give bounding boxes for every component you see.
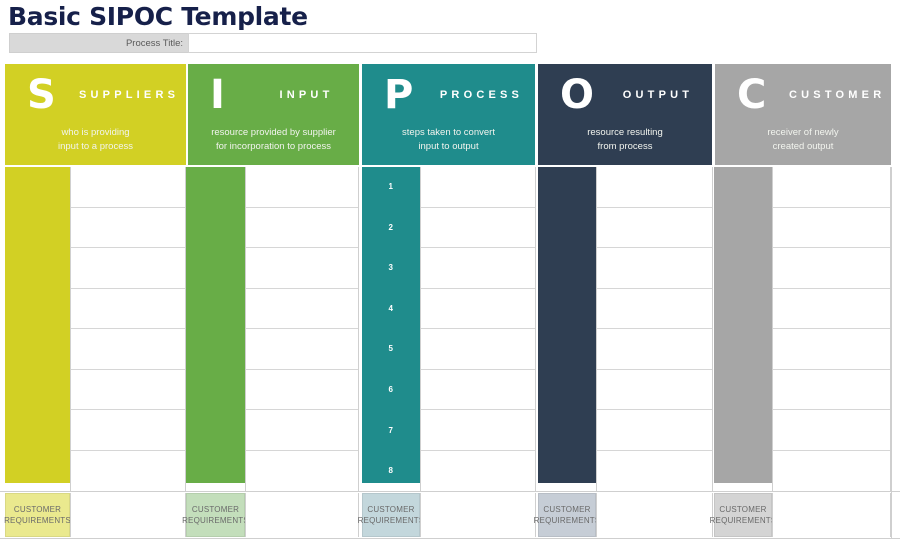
requirements-line-1: CUSTOMER [719,504,766,515]
entry-cell[interactable] [773,289,890,330]
entry-cell[interactable] [71,208,185,249]
sipoc-header-band: SSUPPLIERSwho is providinginput to a pro… [0,64,900,165]
entry-cell[interactable] [421,167,535,208]
customer-requirements-entry-output[interactable] [596,493,713,537]
customer-requirements-output: CUSTOMERREQUIREMENTS [538,493,596,537]
entry-cell[interactable] [246,370,358,411]
sipoc-entry-column-input [245,167,359,491]
sipoc-description-customer: receiver of newlycreated output [715,126,891,153]
entry-cell[interactable] [597,370,712,411]
customer-requirements-entry-input[interactable] [245,493,359,537]
sipoc-letter-output: O [538,75,612,115]
process-step-number: 1 [362,167,420,208]
sipoc-colorbar-input [186,167,245,483]
entry-cell[interactable] [773,248,890,289]
sipoc-letter-input: I [188,75,262,115]
customer-requirements-customer: CUSTOMERREQUIREMENTS [714,493,772,537]
process-step-number: 2 [362,208,420,249]
entry-cell[interactable] [597,167,712,208]
entry-cell[interactable] [773,451,890,492]
sipoc-description-process: steps taken to convertinput to output [362,126,535,153]
sipoc-word-output: OUTPUT [612,89,712,101]
process-title-label: Process Title: [9,33,188,53]
description-line-1: steps taken to convert [368,126,529,140]
sipoc-colorbar-suppliers [5,167,70,483]
sipoc-colorbar-process: 12345678 [362,167,420,483]
process-step-number: 3 [362,248,420,289]
sipoc-word-process: PROCESS [436,89,535,101]
entry-cell[interactable] [773,370,890,411]
entry-cell[interactable] [246,167,358,208]
entry-cell[interactable] [773,329,890,370]
entry-cell[interactable] [597,289,712,330]
customer-requirements-suppliers: CUSTOMERREQUIREMENTS [5,493,70,537]
sipoc-word-suppliers: SUPPLIERS [79,89,186,101]
process-step-number: 8 [362,451,420,492]
requirements-line-2: REQUIREMENTS [182,515,249,526]
requirements-line-2: REQUIREMENTS [710,515,777,526]
sipoc-template-page: Basic SIPOC Template Process Title: SSUP… [0,0,900,539]
description-line-1: resource provided by supplier [194,126,353,140]
entry-cell[interactable] [597,248,712,289]
entry-cell[interactable] [71,289,185,330]
entry-cell[interactable] [246,451,358,492]
process-step-number: 5 [362,329,420,370]
sipoc-colorbar-output [538,167,596,483]
description-line-1: resource resulting [544,126,706,140]
description-line-2: from process [544,140,706,154]
requirements-line-1: CUSTOMER [14,504,61,515]
sipoc-description-output: resource resultingfrom process [538,126,712,153]
entry-cell[interactable] [246,289,358,330]
description-line-2: input to a process [11,140,180,154]
entry-cell[interactable] [421,370,535,411]
sipoc-letter-suppliers: S [5,75,79,115]
entry-cell[interactable] [421,451,535,492]
requirements-line-1: CUSTOMER [192,504,239,515]
description-line-2: for incorporation to process [194,140,353,154]
entry-cell[interactable] [71,329,185,370]
entry-cell[interactable] [421,248,535,289]
description-line-1: receiver of newly [721,126,885,140]
entry-cell[interactable] [597,410,712,451]
entry-cell[interactable] [421,289,535,330]
entry-cell[interactable] [597,329,712,370]
process-title-bar: Process Title: [9,33,537,53]
entry-cell[interactable] [597,208,712,249]
sipoc-letter-process: P [362,75,436,115]
customer-requirements-entry-suppliers[interactable] [70,493,186,537]
requirements-line-1: CUSTOMER [543,504,590,515]
sipoc-word-input: INPUT [262,89,359,101]
entry-cell[interactable] [71,370,185,411]
sipoc-header-suppliers: SSUPPLIERSwho is providinginput to a pro… [5,64,186,165]
customer-requirements-process: CUSTOMERREQUIREMENTS [362,493,420,537]
sipoc-header-input: IINPUTresource provided by supplierfor i… [188,64,359,165]
entry-cell[interactable] [421,410,535,451]
description-line-2: created output [721,140,885,154]
requirements-line-2: REQUIREMENTS [534,515,601,526]
entry-cell[interactable] [71,248,185,289]
sipoc-letter-customer: C [715,75,789,115]
entry-cell[interactable] [246,410,358,451]
customer-requirements-entry-process[interactable] [420,493,536,537]
customer-requirements-band: CUSTOMERREQUIREMENTSCUSTOMERREQUIREMENTS… [0,491,900,539]
entry-cell[interactable] [71,451,185,492]
entry-cell[interactable] [246,329,358,370]
process-step-number: 7 [362,411,420,452]
sipoc-header-customer: CCUSTOMERreceiver of newlycreated output [715,64,891,165]
sipoc-colorbar-customer [714,167,772,483]
description-line-2: input to output [368,140,529,154]
entry-cell[interactable] [421,329,535,370]
page-title: Basic SIPOC Template [8,2,308,31]
description-line-1: who is providing [11,126,180,140]
entry-cell[interactable] [773,167,890,208]
sipoc-entry-column-suppliers [70,167,186,491]
requirements-line-2: REQUIREMENTS [358,515,425,526]
sipoc-entry-column-process [420,167,536,491]
requirements-line-2: REQUIREMENTS [4,515,71,526]
sipoc-header-output: OOUTPUTresource resultingfrom process [538,64,712,165]
sipoc-grid-body: 12345678CUSTOMERREQUIREMENTSCUSTOMERREQU… [0,167,900,539]
sipoc-description-suppliers: who is providinginput to a process [5,126,186,153]
entry-cell[interactable] [773,208,890,249]
requirements-line-1: CUSTOMER [367,504,414,515]
process-title-input[interactable] [188,33,537,53]
entry-cell[interactable] [421,208,535,249]
grid-right-edge [891,167,892,539]
process-step-number: 4 [362,289,420,330]
entry-cell[interactable] [246,248,358,289]
entry-cell[interactable] [71,410,185,451]
sipoc-header-process: PPROCESSsteps taken to convertinput to o… [362,64,535,165]
sipoc-word-customer: CUSTOMER [789,89,891,101]
customer-requirements-entry-customer[interactable] [772,493,891,537]
sipoc-entry-column-output [596,167,713,491]
customer-requirements-input: CUSTOMERREQUIREMENTS [186,493,245,537]
sipoc-entry-column-customer [772,167,891,491]
process-step-number: 6 [362,370,420,411]
entry-cell[interactable] [246,208,358,249]
entry-cell[interactable] [773,410,890,451]
sipoc-description-input: resource provided by supplierfor incorpo… [188,126,359,153]
entry-cell[interactable] [71,167,185,208]
entry-cell[interactable] [597,451,712,492]
